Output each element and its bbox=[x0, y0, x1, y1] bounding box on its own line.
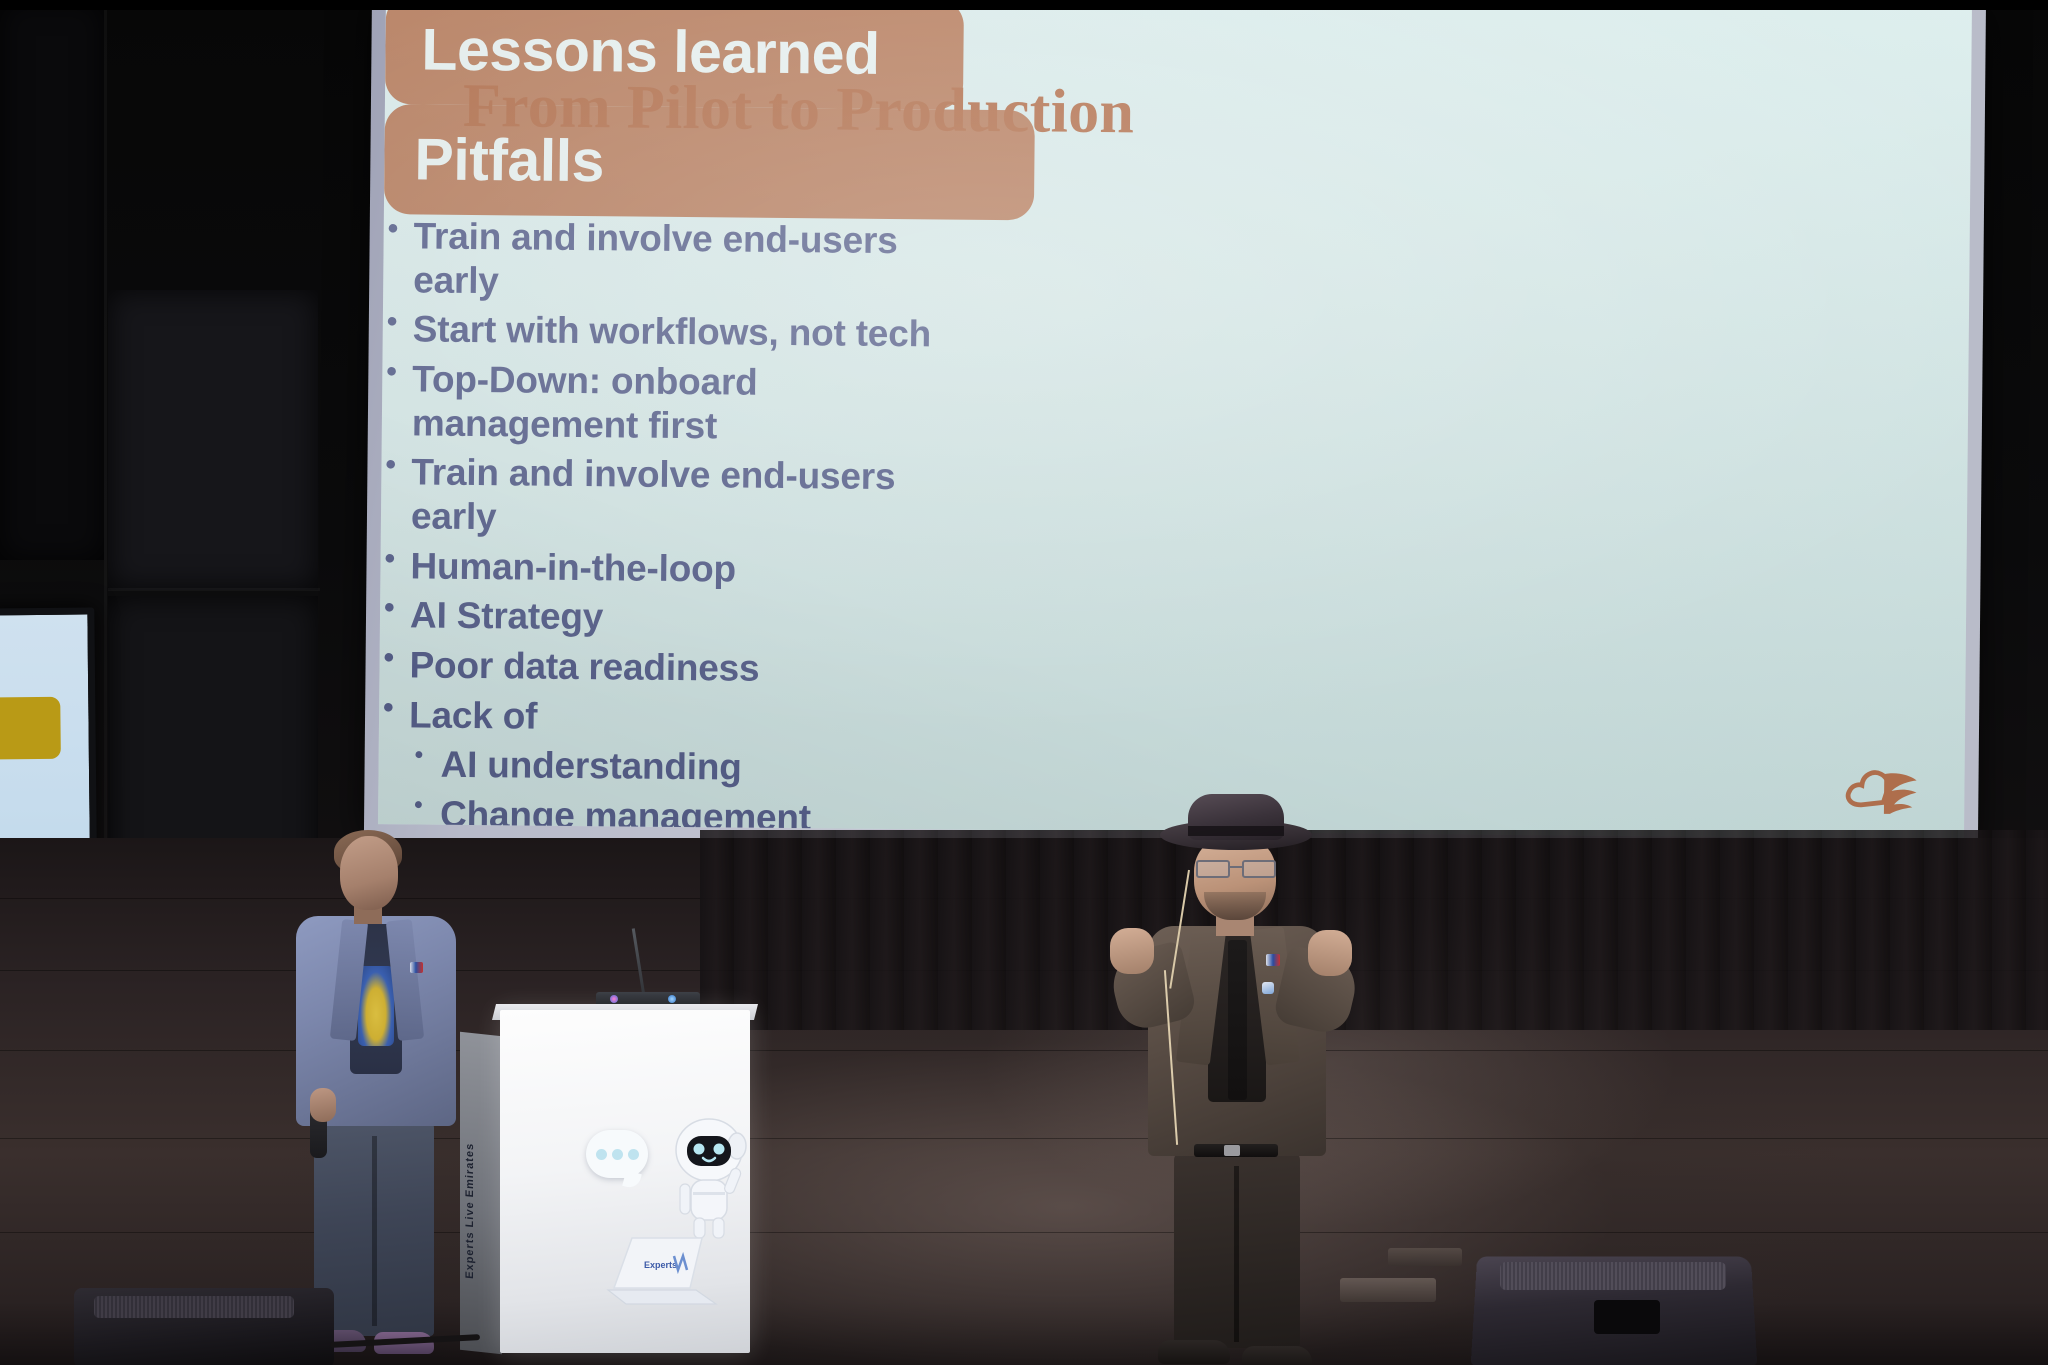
right-presenter-beard bbox=[1204, 892, 1266, 920]
top-letterbox-bar bbox=[0, 0, 2048, 10]
led-indicator bbox=[668, 995, 676, 1003]
left-presenter bbox=[288, 836, 468, 1365]
list-item: Train and involve end-users early bbox=[381, 450, 972, 543]
list-item: Lack of bbox=[379, 693, 1019, 743]
flag-pin-icon bbox=[410, 962, 423, 973]
list-item: AI understanding bbox=[378, 742, 1018, 792]
speaker-grille bbox=[94, 1296, 294, 1318]
floor-cable-plate bbox=[1340, 1278, 1436, 1302]
wall-panel-far-left bbox=[0, 0, 104, 560]
laptop-icon: Experts bbox=[596, 1234, 722, 1310]
right-presenter-tie bbox=[1228, 940, 1247, 1100]
right-presenter-belt bbox=[1194, 1144, 1278, 1157]
list-item: AI Strategy bbox=[380, 593, 970, 642]
bullet-list-pitfalls: Poor data readiness Lack of AI understan… bbox=[378, 643, 1020, 839]
floor-cable-plate bbox=[1388, 1248, 1462, 1266]
svg-text:Experts: Experts bbox=[644, 1260, 677, 1270]
right-presenter-leg-split bbox=[1234, 1166, 1239, 1342]
podium-brand-text: Experts Live Emirates bbox=[464, 1142, 478, 1279]
wall-seam-vertical bbox=[104, 0, 107, 880]
presentation-slide: From Pilot to Production Lessons learned… bbox=[378, 0, 1972, 839]
stage-scene: -time eval From Pilot to Production Less… bbox=[0, 0, 2048, 1365]
right-presenter bbox=[1108, 800, 1358, 1365]
robot-mascot-icon bbox=[663, 1114, 755, 1244]
list-item: Human-in-the-loop bbox=[380, 544, 970, 593]
right-presenter-hand bbox=[1308, 930, 1352, 976]
stage-curtain bbox=[700, 830, 2048, 1030]
podium-side-panel: Experts Live Emirates bbox=[460, 1032, 502, 1354]
wall-panel-upper bbox=[108, 290, 318, 590]
left-presenter-head bbox=[340, 836, 398, 910]
fedora-hat-band bbox=[1188, 826, 1284, 836]
flag-pin-icon bbox=[1266, 954, 1280, 966]
slide-title: From Pilot to Production bbox=[463, 71, 1135, 148]
confidence-monitor-header-box bbox=[0, 697, 61, 760]
eyeglasses-icon bbox=[1196, 860, 1276, 874]
wall-panel-lower bbox=[108, 596, 318, 876]
stage-monitor-right bbox=[1474, 1254, 1754, 1365]
left-presenter-tshirt-graphic bbox=[358, 966, 394, 1046]
list-item: Train and involve end-users early bbox=[383, 214, 974, 307]
badge-pin-icon bbox=[1262, 982, 1274, 994]
bullet-list-lessons-learned: Train and involve end-users early Start … bbox=[380, 214, 974, 643]
right-presenter-shoe bbox=[1158, 1340, 1230, 1364]
cloud-wing-icon bbox=[1840, 756, 1923, 815]
list-item: Poor data readiness bbox=[379, 643, 1019, 693]
left-presenter-leg-split bbox=[372, 1136, 377, 1326]
stage-monitor-left bbox=[74, 1288, 334, 1365]
speaker-port bbox=[1594, 1300, 1660, 1334]
speaker-grille bbox=[1500, 1262, 1726, 1290]
projection-screen: From Pilot to Production Lessons learned… bbox=[364, 0, 1986, 855]
list-item: Start with workflows, not tech bbox=[383, 307, 973, 356]
list-item: Top-Down: onboard management first bbox=[382, 357, 973, 450]
led-indicator bbox=[610, 995, 618, 1003]
podium-front-panel: Experts bbox=[500, 1010, 750, 1353]
podium: Experts Live Emirates bbox=[460, 1004, 760, 1365]
right-presenter-hand bbox=[1110, 928, 1154, 974]
right-presenter-shoe bbox=[1242, 1346, 1312, 1365]
wall-seam-horizontal bbox=[108, 588, 320, 591]
speech-bubble-icon bbox=[586, 1130, 648, 1178]
left-presenter-hand bbox=[310, 1088, 336, 1122]
